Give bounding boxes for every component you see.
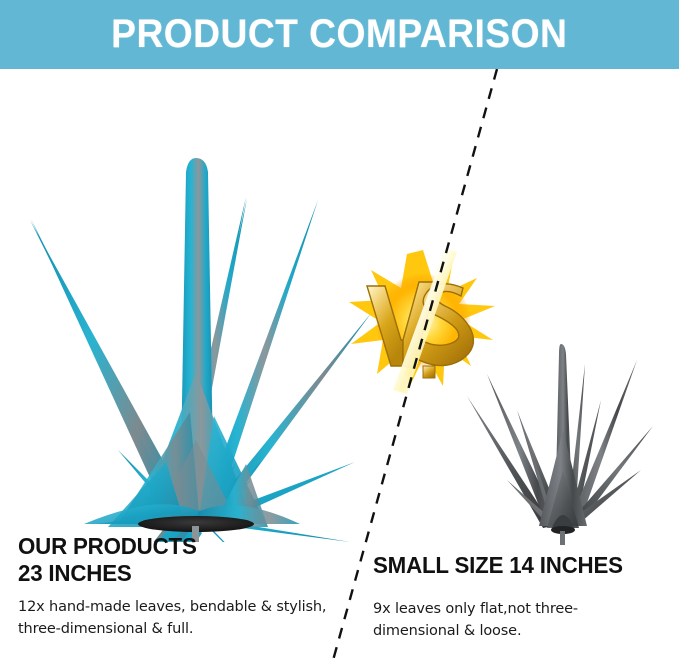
blue-agave-leaves <box>14 158 372 542</box>
right-product-stake <box>560 531 565 545</box>
right-heading-line1: SMALL SIZE 14 INCHES <box>373 552 659 579</box>
left-description: 12x hand-made leaves, bendable & stylish… <box>18 596 328 640</box>
left-heading-line1: OUR PRODUCTS <box>18 533 319 560</box>
page-title: PRODUCT COMPARISON <box>111 12 567 57</box>
left-description-line1: 12x hand-made leaves, bendable & stylish… <box>18 596 328 618</box>
left-heading-line2: 23 INCHES <box>18 560 319 587</box>
right-description-line1: 9x leaves only flat,not three- <box>373 598 668 620</box>
right-description-line2: dimensional & loose. <box>373 620 668 642</box>
left-product-text: OUR PRODUCTS 23 INCHES 12x hand-made lea… <box>18 533 328 640</box>
vs-badge <box>347 248 499 394</box>
header-banner: PRODUCT COMPARISON <box>0 0 679 69</box>
right-description: 9x leaves only flat,not three- dimension… <box>373 598 668 642</box>
left-description-line2: three-dimensional & full. <box>18 618 328 640</box>
left-product-image <box>0 72 400 542</box>
product-comparison-image: PRODUCT COMPARISON <box>0 0 679 664</box>
right-product-text: SMALL SIZE 14 INCHES 9x leaves only flat… <box>373 552 668 642</box>
